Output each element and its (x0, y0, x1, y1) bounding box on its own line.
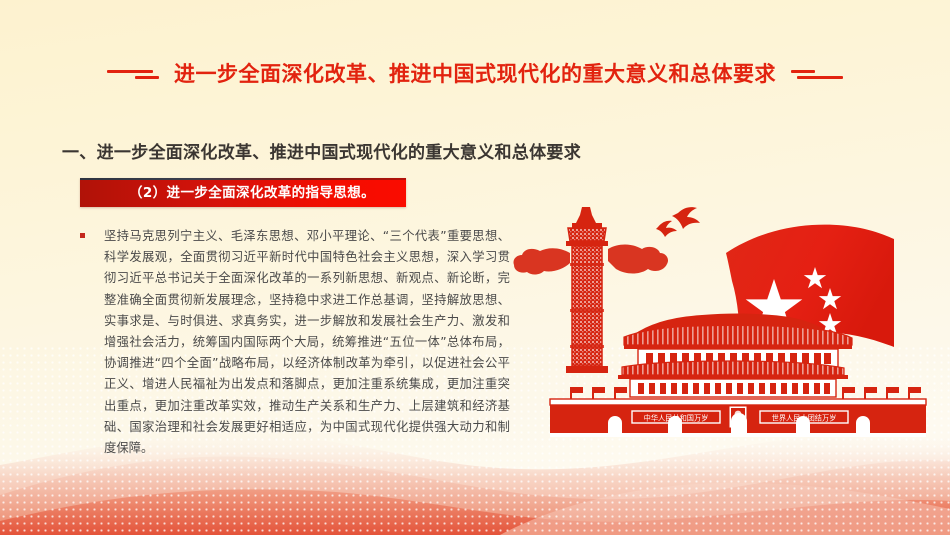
rostrum-wall: 中华人民共和国万岁 世界人民大团结万岁 (550, 399, 926, 437)
slide-canvas: 进一步全面深化改革、推进中国式现代化的重大意义和总体要求 一、进一步全面深化改革… (0, 0, 950, 535)
page-title: 进一步全面深化改革、推进中国式现代化的重大意义和总体要求 (174, 58, 776, 88)
dove-icon-group (656, 207, 700, 237)
tiananmen-gate (618, 314, 852, 398)
title-rule-right-icon (791, 65, 843, 81)
subsection-banner: （2）进一步全面深化改革的指导思想。 (80, 178, 406, 207)
slide-title-row: 进一步全面深化改革、推进中国式现代化的重大意义和总体要求 (0, 58, 950, 88)
subsection-banner-label: （2）进一步全面深化改革的指导思想。 (80, 178, 406, 207)
title-rule-left-icon (107, 65, 159, 81)
section-heading: 一、进一步全面深化改革、推进中国式现代化的重大意义和总体要求 (62, 138, 581, 163)
body-content: 坚持马克思列宁主义、毛泽东思想、邓小平理论、“三个代表”重要思想、科学发展观，全… (80, 226, 510, 459)
bullet-square-icon (80, 233, 85, 238)
bullet-item: 坚持马克思列宁主义、毛泽东思想、邓小平理论、“三个代表”重要思想、科学发展观，全… (80, 226, 510, 459)
illustration-svg: 中华人民共和国万岁 世界人民大团结万岁 (512, 205, 936, 437)
body-paragraph: 坚持马克思列宁主义、毛泽东思想、邓小平理论、“三个代表”重要思想、科学发展观，全… (104, 226, 510, 459)
tiananmen-illustration: 中华人民共和国万岁 世界人民大团结万岁 (512, 205, 936, 437)
